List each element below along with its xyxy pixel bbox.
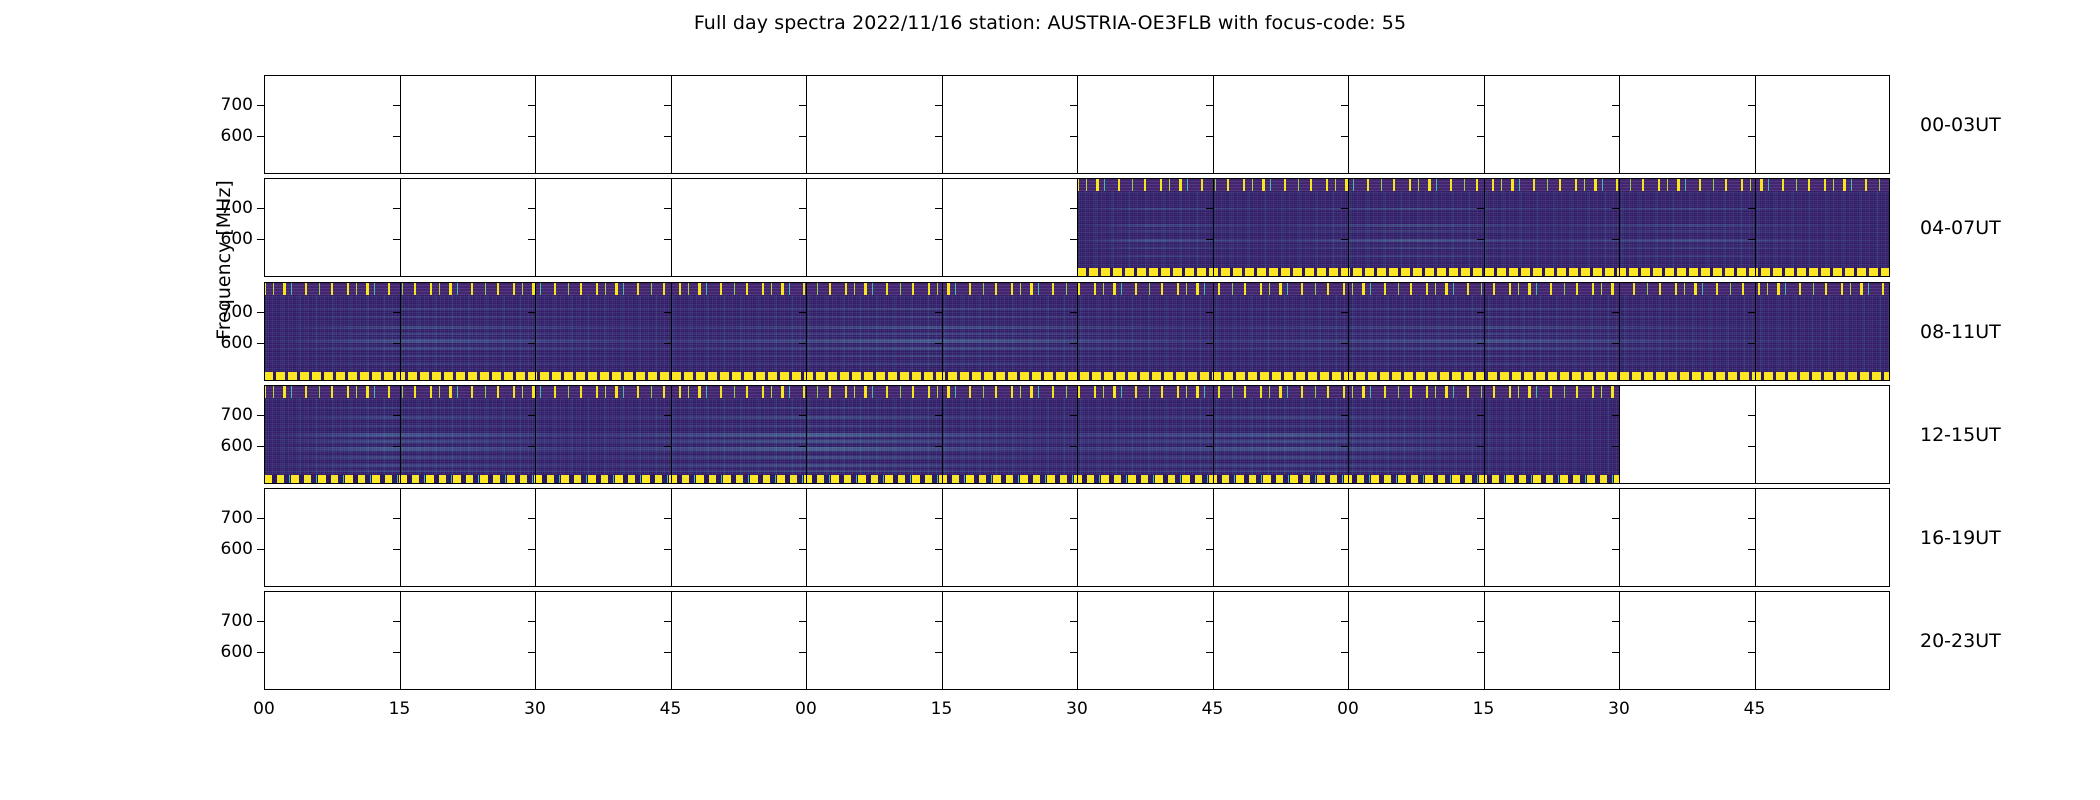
y-tick-mark-inner <box>528 549 535 550</box>
x-axis: 001530450015304500153045 <box>264 690 1890 691</box>
calibration-baseline-strip <box>1077 268 1890 277</box>
y-tick-mark-inner <box>1612 136 1619 137</box>
rfi-speckle-band <box>1077 178 1890 191</box>
y-tick-mark-inner <box>1477 415 1484 416</box>
x-tick-mark <box>1619 683 1620 690</box>
y-tick-mark-inner <box>799 105 806 106</box>
x-tick-label: 00 <box>253 699 275 719</box>
y-tick-mark-inner <box>1341 549 1348 550</box>
y-tick-mark-inner <box>1070 105 1077 106</box>
x-tick-mark <box>400 683 401 690</box>
y-tick-mark-inner <box>799 239 806 240</box>
y-tick-label: 700 <box>221 198 253 218</box>
y-tick-mark-inner <box>935 343 942 344</box>
y-tick-mark-inner <box>528 343 535 344</box>
y-tick-mark-inner <box>1748 621 1755 622</box>
x-tick-mark <box>671 683 672 690</box>
x-tick-label: 30 <box>1608 699 1630 719</box>
y-tick-mark-inner <box>1612 239 1619 240</box>
y-tick-mark-inner <box>1341 621 1348 622</box>
y-tick-mark-inner <box>1341 518 1348 519</box>
y-tick-mark <box>257 312 264 313</box>
y-tick-mark-inner <box>664 239 671 240</box>
y-tick-mark-inner <box>664 446 671 447</box>
y-tick-mark-inner <box>1070 239 1077 240</box>
y-tick-mark-inner <box>935 312 942 313</box>
y-tick-mark-inner <box>393 343 400 344</box>
y-tick-mark-inner <box>528 621 535 622</box>
y-tick-mark-inner <box>1070 312 1077 313</box>
y-tick-mark-inner <box>664 621 671 622</box>
x-tick-mark <box>1348 683 1349 690</box>
y-tick-mark-inner <box>935 208 942 209</box>
y-tick-mark-inner <box>664 415 671 416</box>
spectrogram-panel-row: 700600 <box>264 282 1890 381</box>
y-tick-mark-inner <box>1477 239 1484 240</box>
x-tick-label: 00 <box>1337 699 1359 719</box>
y-tick-mark-inner <box>1206 208 1213 209</box>
y-tick-mark-inner <box>1070 652 1077 653</box>
y-tick-mark-inner <box>1748 652 1755 653</box>
y-tick-mark-inner <box>1612 415 1619 416</box>
y-tick-mark-inner <box>799 136 806 137</box>
y-tick-mark <box>257 208 264 209</box>
y-tick-mark-inner <box>1748 105 1755 106</box>
y-tick-mark-inner <box>1070 136 1077 137</box>
y-tick-mark-inner <box>1612 208 1619 209</box>
y-tick-mark-inner <box>1748 136 1755 137</box>
y-tick-mark-inner <box>935 415 942 416</box>
y-tick-mark-inner <box>664 105 671 106</box>
y-tick-mark-inner <box>528 652 535 653</box>
y-tick-mark-inner <box>1341 239 1348 240</box>
y-tick-mark-inner <box>1748 239 1755 240</box>
spectrogram-data <box>264 385 1619 484</box>
y-tick-mark-inner <box>799 415 806 416</box>
y-tick-mark-inner <box>1341 415 1348 416</box>
y-tick-mark-inner <box>935 549 942 550</box>
y-tick-mark-inner <box>935 518 942 519</box>
y-tick-mark <box>257 343 264 344</box>
panel-frame <box>264 75 1890 174</box>
y-tick-mark-inner <box>1748 549 1755 550</box>
y-tick-mark-inner <box>1341 652 1348 653</box>
y-tick-mark-inner <box>1612 652 1619 653</box>
y-tick-mark-inner <box>1748 415 1755 416</box>
y-tick-mark-inner <box>799 343 806 344</box>
calibration-baseline-strip <box>264 372 1890 381</box>
panel-frame <box>264 591 1890 690</box>
subpanel-dividers <box>264 75 1890 174</box>
y-tick-mark-inner <box>1070 446 1077 447</box>
y-tick-mark-inner <box>1748 518 1755 519</box>
x-tick-mark <box>806 683 807 690</box>
x-tick-label: 45 <box>1202 699 1224 719</box>
spectrogram-panel-row: 700600 <box>264 488 1890 587</box>
page-title: Full day spectra 2022/11/16 station: AUS… <box>0 12 2100 34</box>
y-tick-mark <box>257 105 264 106</box>
y-tick-mark-inner <box>1070 549 1077 550</box>
calibration-baseline-strip <box>264 475 1619 484</box>
y-tick-mark-inner <box>664 343 671 344</box>
y-tick-mark <box>257 136 264 137</box>
y-tick-mark-inner <box>1206 136 1213 137</box>
y-tick-mark <box>257 415 264 416</box>
y-tick-mark-inner <box>528 446 535 447</box>
row-time-label: 08-11UT <box>1920 321 2001 343</box>
spectrogram-data <box>1077 178 1890 277</box>
y-tick-mark-inner <box>1477 652 1484 653</box>
y-tick-label: 700 <box>221 95 253 115</box>
y-tick-mark-inner <box>1477 312 1484 313</box>
y-tick-mark-inner <box>1341 208 1348 209</box>
y-tick-label: 600 <box>221 229 253 249</box>
y-tick-mark-inner <box>1748 312 1755 313</box>
x-tick-mark <box>942 683 943 690</box>
y-tick-mark-inner <box>935 446 942 447</box>
y-tick-mark-inner <box>935 105 942 106</box>
y-tick-mark-inner <box>1477 136 1484 137</box>
y-tick-mark-inner <box>664 312 671 313</box>
y-tick-mark-inner <box>1341 446 1348 447</box>
x-tick-label: 30 <box>1066 699 1088 719</box>
spectrogram-panel-row: 700600 <box>264 178 1890 277</box>
y-tick-mark-inner <box>1477 446 1484 447</box>
y-tick-mark-inner <box>664 652 671 653</box>
y-tick-mark-inner <box>1070 621 1077 622</box>
figure-canvas: Full day spectra 2022/11/16 station: AUS… <box>0 0 2100 800</box>
y-tick-mark-inner <box>528 312 535 313</box>
y-tick-mark-inner <box>528 239 535 240</box>
row-time-label: 20-23UT <box>1920 630 2001 652</box>
y-tick-mark-inner <box>1206 518 1213 519</box>
y-tick-label: 700 <box>221 508 253 528</box>
y-tick-mark-inner <box>1206 652 1213 653</box>
y-tick-mark-inner <box>528 415 535 416</box>
y-tick-mark-inner <box>1477 518 1484 519</box>
emission-streaks <box>1077 178 1890 277</box>
y-tick-mark-inner <box>1206 239 1213 240</box>
y-tick-mark-inner <box>1612 343 1619 344</box>
rfi-speckle-band <box>264 282 1890 295</box>
emission-streaks <box>264 282 1890 381</box>
y-tick-mark-inner <box>528 518 535 519</box>
subpanel-dividers <box>264 488 1890 587</box>
row-time-label: 00-03UT <box>1920 114 2001 136</box>
y-tick-mark-inner <box>393 446 400 447</box>
y-tick-mark-inner <box>393 312 400 313</box>
y-tick-mark-inner <box>799 549 806 550</box>
row-time-label: 12-15UT <box>1920 424 2001 446</box>
y-tick-mark-inner <box>393 136 400 137</box>
y-tick-mark-inner <box>393 621 400 622</box>
y-tick-mark-inner <box>1612 549 1619 550</box>
spectrogram-panel-row: 700600 <box>264 591 1890 690</box>
y-tick-mark <box>257 446 264 447</box>
x-tick-mark <box>1077 683 1078 690</box>
x-tick-label: 15 <box>389 699 411 719</box>
y-tick-label: 700 <box>221 405 253 425</box>
y-tick-mark-inner <box>1206 446 1213 447</box>
y-tick-label: 600 <box>221 333 253 353</box>
y-tick-mark-inner <box>1477 549 1484 550</box>
y-tick-mark-inner <box>1612 312 1619 313</box>
y-tick-mark-inner <box>393 208 400 209</box>
y-tick-mark-inner <box>664 549 671 550</box>
x-tick-label: 15 <box>1473 699 1495 719</box>
y-tick-mark-inner <box>1612 446 1619 447</box>
y-tick-mark-inner <box>393 239 400 240</box>
y-tick-mark-inner <box>1748 343 1755 344</box>
y-tick-mark-inner <box>1341 105 1348 106</box>
y-tick-mark-inner <box>1070 343 1077 344</box>
x-tick-label: 45 <box>1744 699 1766 719</box>
y-tick-mark-inner <box>1070 208 1077 209</box>
y-tick-mark-inner <box>1206 105 1213 106</box>
spectrogram-panel-row: 700600 <box>264 385 1890 484</box>
y-tick-mark-inner <box>528 105 535 106</box>
y-tick-mark-inner <box>664 208 671 209</box>
y-tick-mark-inner <box>528 136 535 137</box>
y-tick-mark <box>257 518 264 519</box>
y-tick-mark-inner <box>1477 105 1484 106</box>
rfi-speckle-band <box>264 385 1619 398</box>
y-tick-label: 700 <box>221 302 253 322</box>
x-tick-mark <box>1755 683 1756 690</box>
y-tick-mark-inner <box>799 518 806 519</box>
y-tick-mark-inner <box>935 136 942 137</box>
y-tick-mark-inner <box>1206 621 1213 622</box>
subpanel-dividers <box>264 591 1890 690</box>
y-tick-mark-inner <box>935 621 942 622</box>
y-tick-mark-inner <box>664 518 671 519</box>
y-tick-mark-inner <box>664 136 671 137</box>
y-tick-mark-inner <box>1206 343 1213 344</box>
y-tick-label: 700 <box>221 611 253 631</box>
y-tick-mark-inner <box>1612 105 1619 106</box>
y-tick-label: 600 <box>221 642 253 662</box>
y-tick-mark-inner <box>393 549 400 550</box>
y-tick-label: 600 <box>221 539 253 559</box>
y-tick-mark-inner <box>799 621 806 622</box>
y-tick-mark-inner <box>799 652 806 653</box>
x-tick-mark <box>1213 683 1214 690</box>
y-tick-mark <box>257 239 264 240</box>
row-time-label: 04-07UT <box>1920 217 2001 239</box>
y-tick-mark-inner <box>1206 549 1213 550</box>
y-tick-mark-inner <box>1206 415 1213 416</box>
x-tick-label: 45 <box>660 699 682 719</box>
y-tick-mark-inner <box>393 518 400 519</box>
y-tick-mark-inner <box>1477 621 1484 622</box>
y-tick-mark-inner <box>1612 518 1619 519</box>
spectrogram-panel-row: 700600 <box>264 75 1890 174</box>
emission-streaks <box>264 385 1619 484</box>
x-tick-label: 00 <box>795 699 817 719</box>
y-tick-mark-inner <box>1477 343 1484 344</box>
x-tick-label: 30 <box>524 699 546 719</box>
y-tick-mark-inner <box>1070 415 1077 416</box>
y-tick-mark <box>257 549 264 550</box>
y-tick-mark-inner <box>935 652 942 653</box>
y-tick-mark-inner <box>393 105 400 106</box>
y-tick-mark-inner <box>935 239 942 240</box>
y-tick-mark-inner <box>1748 446 1755 447</box>
y-tick-mark-inner <box>1206 312 1213 313</box>
y-tick-mark-inner <box>393 652 400 653</box>
spectrogram-data <box>264 282 1890 381</box>
panel-frame <box>264 488 1890 587</box>
y-tick-mark-inner <box>1341 312 1348 313</box>
y-tick-mark-inner <box>1341 343 1348 344</box>
y-tick-mark-inner <box>393 415 400 416</box>
x-tick-label: 15 <box>931 699 953 719</box>
y-tick-mark-inner <box>528 208 535 209</box>
y-tick-mark <box>257 621 264 622</box>
y-tick-mark-inner <box>1341 136 1348 137</box>
y-tick-label: 600 <box>221 126 253 146</box>
y-tick-label: 600 <box>221 436 253 456</box>
y-tick-mark-inner <box>1748 208 1755 209</box>
row-time-label: 16-19UT <box>1920 527 2001 549</box>
y-tick-mark-inner <box>1612 621 1619 622</box>
x-tick-mark <box>535 683 536 690</box>
y-tick-mark <box>257 652 264 653</box>
y-tick-mark-inner <box>799 446 806 447</box>
x-tick-mark <box>264 683 265 690</box>
y-tick-mark-inner <box>1070 518 1077 519</box>
y-tick-mark-inner <box>799 208 806 209</box>
y-tick-mark-inner <box>1477 208 1484 209</box>
x-tick-mark <box>1484 683 1485 690</box>
y-tick-mark-inner <box>799 312 806 313</box>
